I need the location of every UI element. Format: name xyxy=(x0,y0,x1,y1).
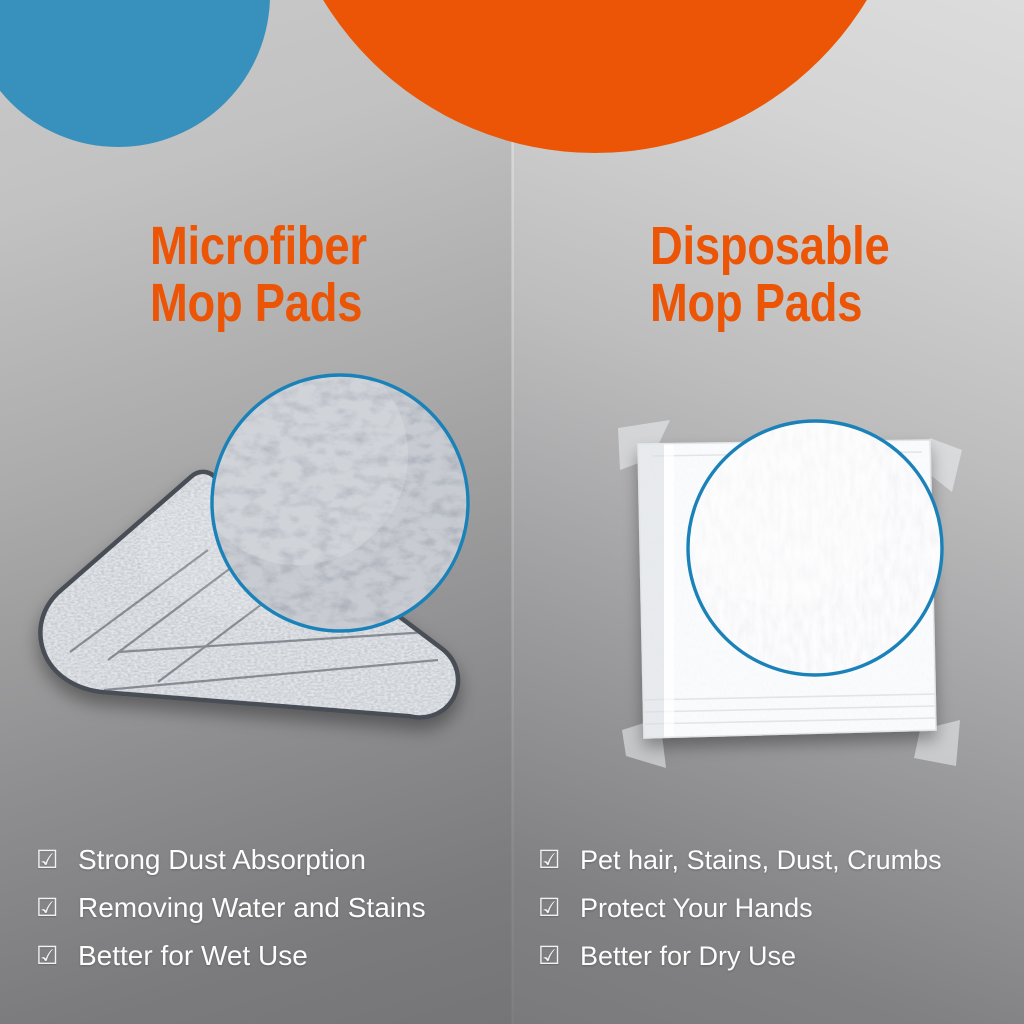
list-item-label: Better for Wet Use xyxy=(78,941,308,971)
right-feature-list: ☑ Pet hair, Stains, Dust, Crumbs ☑ Prote… xyxy=(538,836,942,980)
list-item: ☑ Removing Water and Stains xyxy=(36,884,426,932)
list-item-label: Protect Your Hands xyxy=(580,893,813,923)
infographic-canvas: Microfiber Mop Pads Disposable Mop Pads xyxy=(0,0,1024,1024)
list-item: ☑ Better for Dry Use xyxy=(538,932,942,980)
left-feature-list: ☑ Strong Dust Absorption ☑ Removing Wate… xyxy=(36,836,426,980)
page-title-right: Disposable Mop Pads xyxy=(650,218,889,332)
list-item-label: Strong Dust Absorption xyxy=(78,845,366,875)
list-item: ☑ Strong Dust Absorption xyxy=(36,836,426,884)
page-title-left: Microfiber Mop Pads xyxy=(150,218,367,332)
orange-decorative-circle xyxy=(277,0,913,153)
checkbox-checked-icon: ☑ xyxy=(538,896,564,921)
checkbox-checked-icon: ☑ xyxy=(36,848,62,873)
blue-decorative-circle xyxy=(0,0,270,147)
left-product-illustration xyxy=(8,360,508,790)
checkbox-checked-icon: ☑ xyxy=(538,848,564,873)
checkbox-checked-icon: ☑ xyxy=(538,944,564,969)
list-item: ☑ Protect Your Hands xyxy=(538,884,942,932)
list-item-label: Better for Dry Use xyxy=(580,941,796,971)
right-product-illustration xyxy=(600,400,1000,800)
checkbox-checked-icon: ☑ xyxy=(36,896,62,921)
checkbox-checked-icon: ☑ xyxy=(36,944,62,969)
list-item: ☑ Better for Wet Use xyxy=(36,932,426,980)
list-item-label: Removing Water and Stains xyxy=(78,893,426,923)
list-item: ☑ Pet hair, Stains, Dust, Crumbs xyxy=(538,836,942,884)
list-item-label: Pet hair, Stains, Dust, Crumbs xyxy=(580,845,942,875)
